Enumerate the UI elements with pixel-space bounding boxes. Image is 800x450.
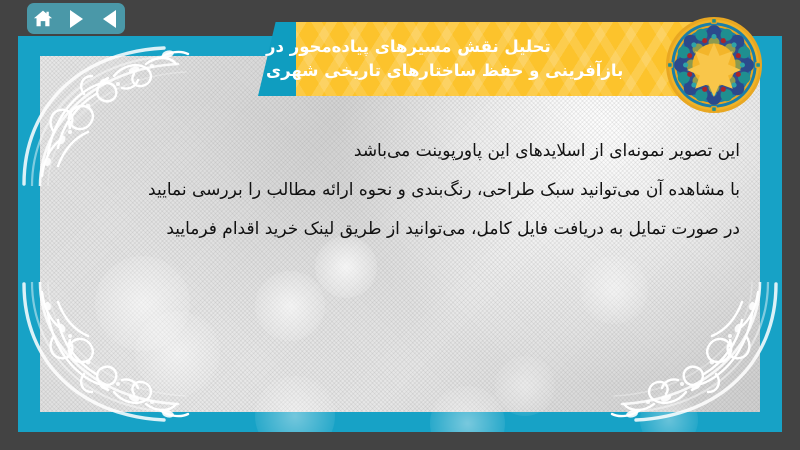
body-line-1: این تصویر نمونه‌ای از اسلایدهای این پاور… <box>40 132 740 171</box>
body-line-2: با مشاهده آن می‌توانید سبک طراحی، رنگ‌بن… <box>40 171 740 210</box>
forward-arrow-icon <box>70 10 83 28</box>
bokeh-circle <box>430 386 505 432</box>
slide-title-line-1: تحلیل نقش مسیرهای پیاده‌محور در <box>266 36 551 58</box>
home-button[interactable] <box>33 9 53 29</box>
back-arrow-icon <box>103 10 116 28</box>
bokeh-circle <box>255 271 325 341</box>
slide-title-banner: تحلیل نقش مسیرهای پیاده‌محور در بازآفرین… <box>258 22 728 96</box>
bokeh-circle <box>495 356 555 416</box>
navigation-toolbar <box>27 3 125 34</box>
slide-title-line-2: بازآفرینی و حفظ ساختارهای تاریخی شهری <box>266 60 623 82</box>
forward-button[interactable] <box>66 9 86 29</box>
back-button[interactable] <box>99 9 119 29</box>
bokeh-circle <box>95 256 190 351</box>
bokeh-circle <box>580 256 648 324</box>
home-icon <box>33 9 53 28</box>
persian-mandala-medallion <box>665 16 763 114</box>
slide-body-text: این تصویر نمونه‌ای از اسلایدهای این پاور… <box>40 132 740 249</box>
slide-title: تحلیل نقش مسیرهای پیاده‌محور در بازآفرین… <box>258 22 728 96</box>
slide-viewer: تحلیل نقش مسیرهای پیاده‌محور در بازآفرین… <box>0 0 800 450</box>
body-line-3: در صورت تمایل به دریافت فایل کامل، می‌تو… <box>40 210 740 249</box>
bokeh-circle <box>640 391 698 432</box>
bokeh-circle <box>135 311 220 396</box>
bokeh-circle <box>255 376 335 432</box>
